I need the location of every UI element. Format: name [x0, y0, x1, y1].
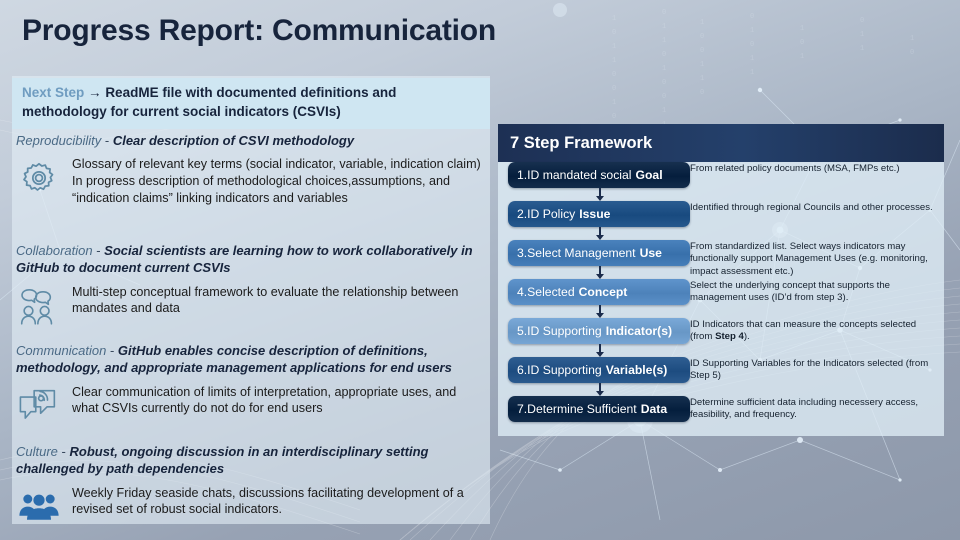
- framework-step-4[interactable]: 4. SelectedConcept: [508, 279, 690, 305]
- flow-arrow-icon: [599, 188, 601, 197]
- svg-text:1: 1: [800, 53, 804, 61]
- svg-text:0: 0: [662, 93, 666, 101]
- section-emphasis: Clear description of CSVI methodology: [113, 133, 354, 148]
- svg-text:0: 0: [750, 13, 754, 21]
- svg-text:1: 1: [800, 25, 804, 33]
- body-line: Multi-step conceptual framework to evalu…: [72, 284, 486, 317]
- svg-text:0: 0: [750, 41, 754, 49]
- svg-text:0: 0: [700, 47, 704, 55]
- section-body-text: Weekly Friday seaside chats, discussions…: [72, 484, 486, 518]
- section-keyword: Reproducibility: [16, 133, 101, 148]
- svg-text:1: 1: [612, 15, 616, 23]
- svg-text:1: 1: [662, 107, 666, 115]
- section-communication: Communication - GitHub enables concise d…: [16, 342, 486, 427]
- section-dash: -: [106, 343, 118, 358]
- section-collaboration: Collaboration - Social scientists are le…: [16, 242, 486, 327]
- step-label: Selected: [527, 285, 574, 299]
- framework-step-row: 3. Select ManagementUseFrom standardized…: [498, 240, 944, 279]
- svg-text:0: 0: [662, 51, 666, 59]
- framework-step-box-wrap: 1. ID mandated socialGoal: [498, 162, 690, 188]
- svg-text:1: 1: [860, 45, 864, 53]
- step-number: 2.: [517, 207, 527, 221]
- step-label: ID Supporting: [527, 324, 602, 338]
- speech-broadcast-icon: [16, 383, 62, 427]
- group-people-icon: [16, 484, 62, 528]
- svg-text:1: 1: [910, 35, 914, 43]
- svg-text:0: 0: [910, 49, 914, 57]
- framework-step-row: 5. ID SupportingIndicator(s)ID Indicator…: [498, 318, 944, 357]
- flow-arrow-icon: [599, 344, 601, 353]
- svg-text:0: 0: [662, 79, 666, 87]
- step-description-emphasis: Step 4: [715, 331, 744, 342]
- section-dash: -: [58, 444, 70, 459]
- framework-step-description: ID Indicators that can measure the conce…: [690, 318, 944, 344]
- section-emphasis: Robust, ongoing discussion in an interdi…: [16, 444, 428, 476]
- framework-step-description: From standardized list. Select ways indi…: [690, 240, 944, 278]
- framework-step-row: 6. ID SupportingVariable(s)ID Supporting…: [498, 357, 944, 396]
- svg-text:1: 1: [700, 19, 704, 27]
- section-keyword: Culture: [16, 444, 58, 459]
- framework-step-5[interactable]: 5. ID SupportingIndicator(s): [508, 318, 690, 344]
- section-heading: Collaboration - Social scientists are le…: [16, 242, 486, 277]
- step-keyword: Variable(s): [606, 363, 668, 377]
- section-heading: Culture - Robust, ongoing discussion in …: [16, 443, 486, 478]
- step-number: 5.: [517, 324, 527, 338]
- next-step-label: Next Step: [22, 85, 84, 100]
- svg-text:1: 1: [662, 37, 666, 45]
- framework-step-box-wrap: 2. ID PolicyIssue: [498, 201, 690, 227]
- step-keyword: Use: [640, 246, 662, 260]
- svg-text:1: 1: [700, 61, 704, 69]
- framework-title: 7 Step Framework: [498, 124, 944, 162]
- section-reproducibility: Reproducibility - Clear description of C…: [16, 132, 486, 206]
- next-step-banner: Next Step → ReadME file with documented …: [12, 78, 490, 129]
- svg-text:1: 1: [662, 23, 666, 31]
- framework-step-box-wrap: 6. ID SupportingVariable(s): [498, 357, 690, 383]
- flow-arrow-icon: [599, 266, 601, 275]
- people-chat-icon: [16, 283, 62, 327]
- svg-text:0: 0: [700, 89, 704, 97]
- page-title: Progress Report: Communication: [22, 14, 496, 48]
- framework-step-row: 1. ID mandated socialGoalFrom related po…: [498, 162, 944, 201]
- step-number: 4.: [517, 285, 527, 299]
- step-number: 1.: [517, 168, 527, 182]
- framework-step-box-wrap: 4. SelectedConcept: [498, 279, 690, 305]
- framework-step-row: 7. Determine SufficientDataDetermine suf…: [498, 396, 944, 430]
- svg-text:1: 1: [612, 57, 616, 65]
- step-keyword: Indicator(s): [606, 324, 672, 338]
- svg-text:1: 1: [612, 43, 616, 51]
- section-body-text: Clear communication of limits of interpr…: [72, 383, 486, 417]
- section-body-text: Multi-step conceptual framework to evalu…: [72, 283, 486, 317]
- svg-text:0: 0: [612, 71, 616, 79]
- svg-text:0: 0: [860, 17, 864, 25]
- framework-step-2[interactable]: 2. ID PolicyIssue: [508, 201, 690, 227]
- step-label: ID Policy: [527, 207, 575, 221]
- svg-text:0: 0: [612, 29, 616, 37]
- flow-arrow-icon: [599, 383, 601, 392]
- framework-step-description: Select the underlying concept that suppo…: [690, 279, 944, 305]
- section-keyword: Collaboration: [16, 243, 93, 258]
- gear-icon: [16, 155, 62, 199]
- step-number: 3.: [517, 246, 527, 260]
- flow-arrow-icon: [599, 305, 601, 314]
- section-body-text: Glossary of relevant key terms (social i…: [72, 155, 486, 206]
- framework-step-1[interactable]: 1. ID mandated socialGoal: [508, 162, 690, 188]
- body-line: Weekly Friday seaside chats, discussions…: [72, 485, 486, 518]
- svg-text:1: 1: [612, 99, 616, 107]
- body-line: Clear communication of limits of interpr…: [72, 384, 486, 417]
- svg-text:0: 0: [700, 33, 704, 41]
- slide-canvas: 101 100 10 011 010 011 100 110 010 11 10…: [0, 0, 960, 540]
- svg-text:0: 0: [612, 113, 616, 121]
- step-keyword: Issue: [579, 207, 610, 221]
- svg-text:1: 1: [750, 69, 754, 77]
- section-culture: Culture - Robust, ongoing discussion in …: [16, 443, 486, 528]
- framework-step-description: Identified through regional Councils and…: [690, 201, 944, 214]
- section-heading: Reproducibility - Clear description of C…: [16, 132, 486, 149]
- framework-step-6[interactable]: 6. ID SupportingVariable(s): [508, 357, 690, 383]
- body-line: In progress description of methodologica…: [72, 173, 486, 206]
- section-dash: -: [101, 133, 113, 148]
- framework-step-box-wrap: 7. Determine SufficientData: [498, 396, 690, 422]
- framework-panel: 7 Step Framework 1. ID mandated socialGo…: [498, 124, 944, 436]
- framework-step-row: 2. ID PolicyIssueIdentified through regi…: [498, 201, 944, 240]
- framework-step-description: ID Supporting Variables for the Indicato…: [690, 357, 944, 383]
- step-label: ID Supporting: [527, 363, 602, 377]
- svg-text:1: 1: [700, 75, 704, 83]
- step-keyword: Concept: [579, 285, 628, 299]
- step-keyword: Data: [641, 402, 667, 416]
- svg-text:1: 1: [860, 31, 864, 39]
- step-number: 6.: [517, 363, 527, 377]
- framework-step-3[interactable]: 3. Select ManagementUse: [508, 240, 690, 266]
- framework-step-row: 4. SelectedConceptSelect the underlying …: [498, 279, 944, 318]
- flow-arrow-icon: [599, 227, 601, 236]
- step-label: Determine Sufficient: [527, 402, 637, 416]
- svg-text:1: 1: [662, 65, 666, 73]
- svg-text:1: 1: [750, 27, 754, 35]
- framework-step-7[interactable]: 7. Determine SufficientData: [508, 396, 690, 422]
- body-line: Glossary of relevant key terms (social i…: [72, 156, 486, 173]
- svg-text:0: 0: [662, 9, 666, 17]
- framework-step-list: 1. ID mandated socialGoalFrom related po…: [498, 162, 944, 430]
- step-label: ID mandated social: [527, 168, 631, 182]
- svg-text:0: 0: [612, 85, 616, 93]
- section-heading: Communication - GitHub enables concise d…: [16, 342, 486, 377]
- framework-step-box-wrap: 3. Select ManagementUse: [498, 240, 690, 266]
- section-keyword: Communication: [16, 343, 106, 358]
- framework-step-description: Determine sufficient data including nece…: [690, 396, 944, 422]
- section-dash: -: [93, 243, 105, 258]
- svg-text:0: 0: [800, 39, 804, 47]
- framework-step-description: From related policy documents (MSA, FMPs…: [690, 162, 944, 175]
- svg-text:1: 1: [750, 55, 754, 63]
- step-label: Select Management: [527, 246, 635, 260]
- framework-step-box-wrap: 5. ID SupportingIndicator(s): [498, 318, 690, 344]
- step-number: 7.: [517, 402, 527, 416]
- next-step-arrow-icon: →: [88, 85, 102, 100]
- step-keyword: Goal: [636, 168, 663, 182]
